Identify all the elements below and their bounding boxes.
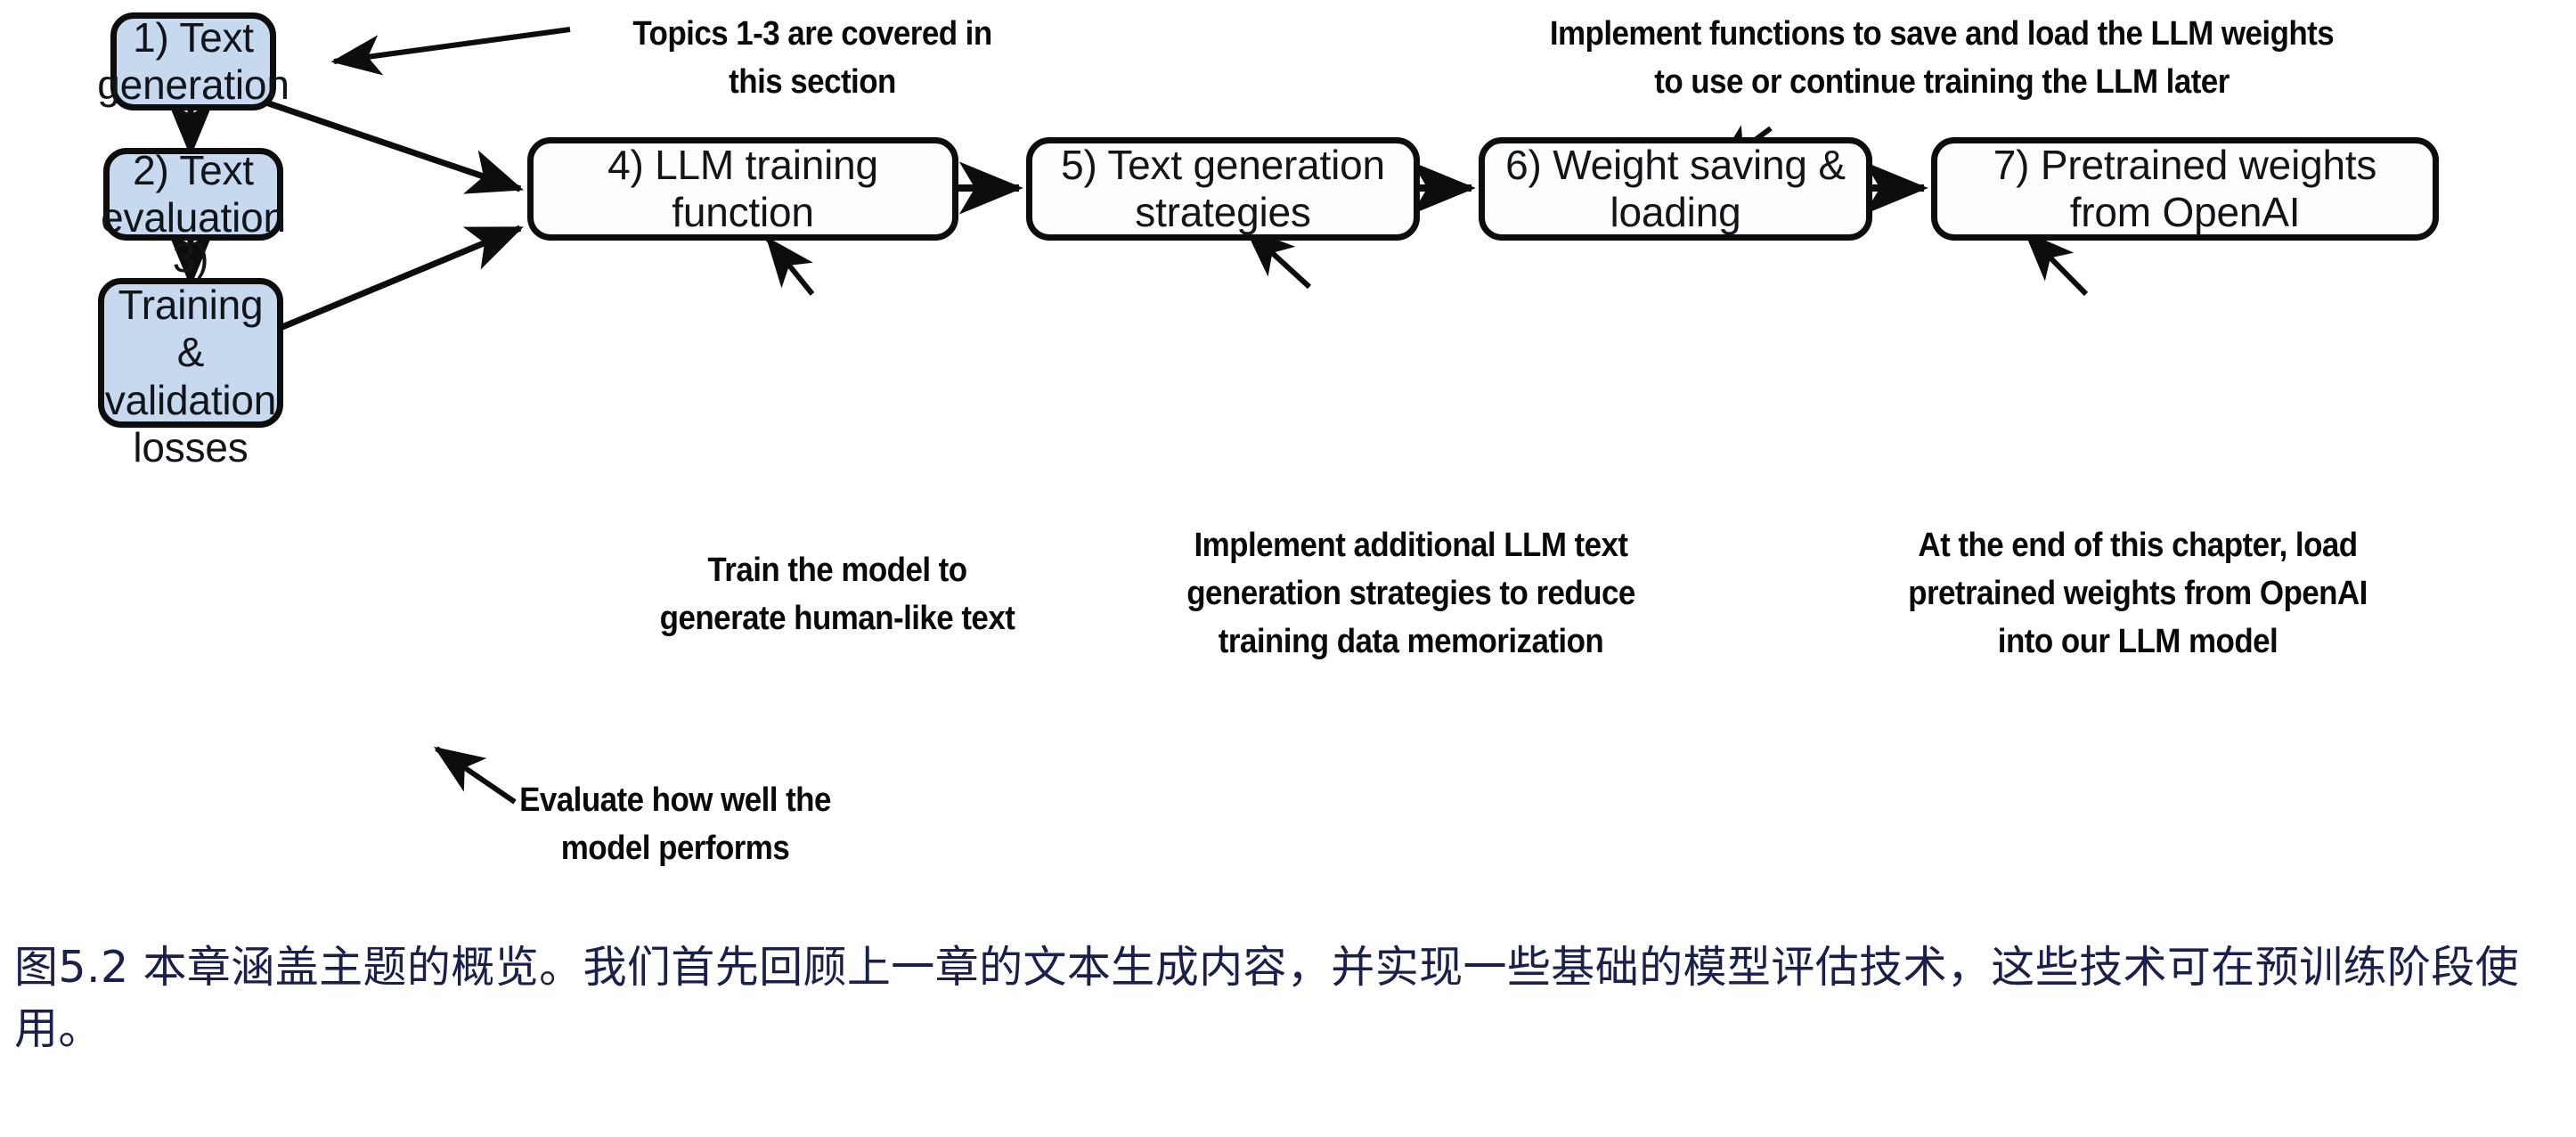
node-weight-saving-loading-label: 6) Weight saving & loading: [1505, 142, 1846, 237]
node-weight-saving-loading[interactable]: 6) Weight saving & loading: [1479, 137, 1872, 241]
leader-a5-to-n7: [2026, 233, 2086, 294]
node-text-evaluation[interactable]: 2) Text evaluation: [103, 148, 283, 241]
node-text-generation-strategies[interactable]: 5) Text generation strategies: [1026, 137, 1420, 241]
node-text-generation-strategies-label: 5) Text generation strategies: [1061, 142, 1385, 237]
leader-a1-to-n1: [334, 29, 570, 61]
annotation-topics-covered: Topics 1-3 are covered in this section: [599, 11, 1025, 107]
node-text-generation[interactable]: 1) Text generation: [110, 12, 276, 110]
figure-root: 1) Text generation 2) Text evaluation 3)…: [0, 0, 2576, 1137]
node-llm-training-function-label: 4) LLM training function: [607, 142, 878, 237]
chapter-overview-flowchart: 1) Text generation 2) Text evaluation 3)…: [0, 0, 2576, 927]
node-training-validation-losses[interactable]: 3) Training & validation losses: [98, 278, 283, 428]
annotation-evaluate-model: Evaluate how well the model performs: [445, 777, 904, 873]
node-text-generation-label: 1) Text generation: [97, 14, 289, 110]
node-training-validation-losses-label: 3) Training & validation losses: [105, 234, 276, 472]
annotation-train-model: Train the model to generate human-like t…: [632, 547, 1042, 643]
annotation-load-pretrained-weights: At the end of this chapter, load pretrai…: [1843, 522, 2433, 667]
node-pretrained-weights-openai-label: 7) Pretrained weights from OpenAI: [1993, 142, 2376, 237]
node-text-evaluation-label: 2) Text evaluation: [101, 147, 286, 242]
figure-caption: 图5.2 本章涵盖主题的概览。我们首先回顾上一章的文本生成内容，并实现一些基础的…: [14, 937, 2562, 1059]
edge-n3-n4: [267, 228, 520, 333]
node-pretrained-weights-openai[interactable]: 7) Pretrained weights from OpenAI: [1931, 137, 2439, 241]
annotation-additional-strategies: Implement additional LLM text generation…: [1132, 522, 1690, 667]
node-llm-training-function[interactable]: 4) LLM training function: [527, 137, 958, 241]
annotation-save-load-weights: Implement functions to save and load the…: [1466, 11, 2417, 107]
leader-a3-to-n4: [768, 239, 812, 294]
